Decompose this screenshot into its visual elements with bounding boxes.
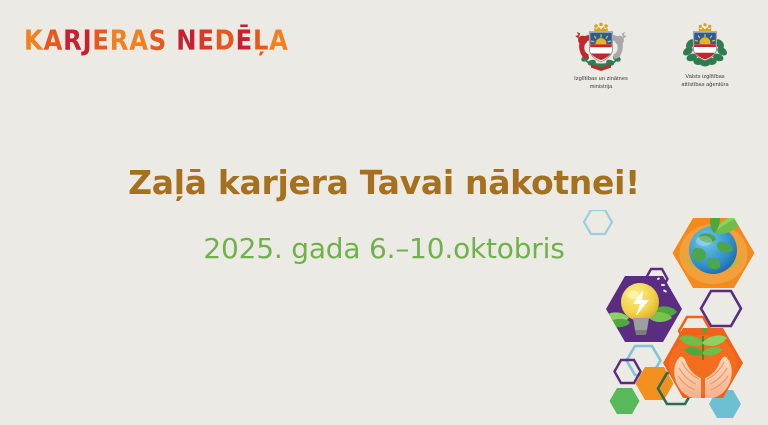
wordmark-letter-7: S	[149, 26, 167, 54]
decorative-illustration	[583, 210, 768, 425]
institution-logo-bar: Izglītības un zinātnes ministrija	[558, 20, 748, 91]
hex-outline-purple-large	[701, 291, 741, 326]
latvia-coat-of-arms-icon	[571, 20, 631, 72]
logo-education-development-agency: Valsts izglītības attīstības aģentūra	[662, 20, 748, 89]
wordmark-letter-12: Ē	[236, 26, 253, 54]
hexagon-icon-cluster	[583, 210, 768, 425]
hex-solid-green	[610, 388, 640, 414]
wordmark-letter-2: R	[63, 26, 82, 54]
wordmark-letter-9: N	[176, 26, 197, 54]
wordmark-letter-0: K	[24, 26, 44, 54]
logo-caption-line1: Izglītības un zinātnes	[574, 75, 628, 83]
wordmark-letter-1: A	[44, 26, 64, 54]
hands-plant-hex-badge	[663, 317, 743, 398]
wordmark-letter-3: J	[83, 26, 93, 54]
wordmark-letter-5: R	[110, 26, 129, 54]
hex-outline-lightblue	[584, 210, 612, 234]
logo-caption-line2: ministrija	[574, 83, 628, 91]
wordmark-letter-10: E	[197, 26, 214, 54]
wordmark-letter-11: D	[215, 26, 236, 54]
globe-sprout-hex-badge	[673, 210, 755, 288]
logo-caption: Valsts izglītības attīstības aģentūra	[681, 73, 728, 89]
lightbulb-hex-badge	[603, 276, 682, 342]
logo-caption-line1: Valsts izglītības	[681, 73, 728, 81]
logo-ministry-of-education: Izglītības un zinātnes ministrija	[558, 20, 644, 91]
wordmark-letter-6: A	[129, 26, 149, 54]
wordmark-letter-14: A	[269, 26, 289, 54]
page-title: Zaļā karjera Tavai nākotnei!	[0, 163, 768, 202]
campaign-wordmark: KARJERAS NEDĒĻA	[24, 26, 289, 54]
logo-caption: Izglītības un zinātnes ministrija	[574, 75, 628, 91]
wordmark-letter-4: E	[92, 26, 109, 54]
wordmark-letter-8	[167, 26, 176, 54]
logo-caption-line2: attīstības aģentūra	[681, 81, 728, 89]
latvia-coat-of-arms-icon	[677, 20, 733, 70]
wordmark-letter-13: Ļ	[253, 26, 269, 54]
